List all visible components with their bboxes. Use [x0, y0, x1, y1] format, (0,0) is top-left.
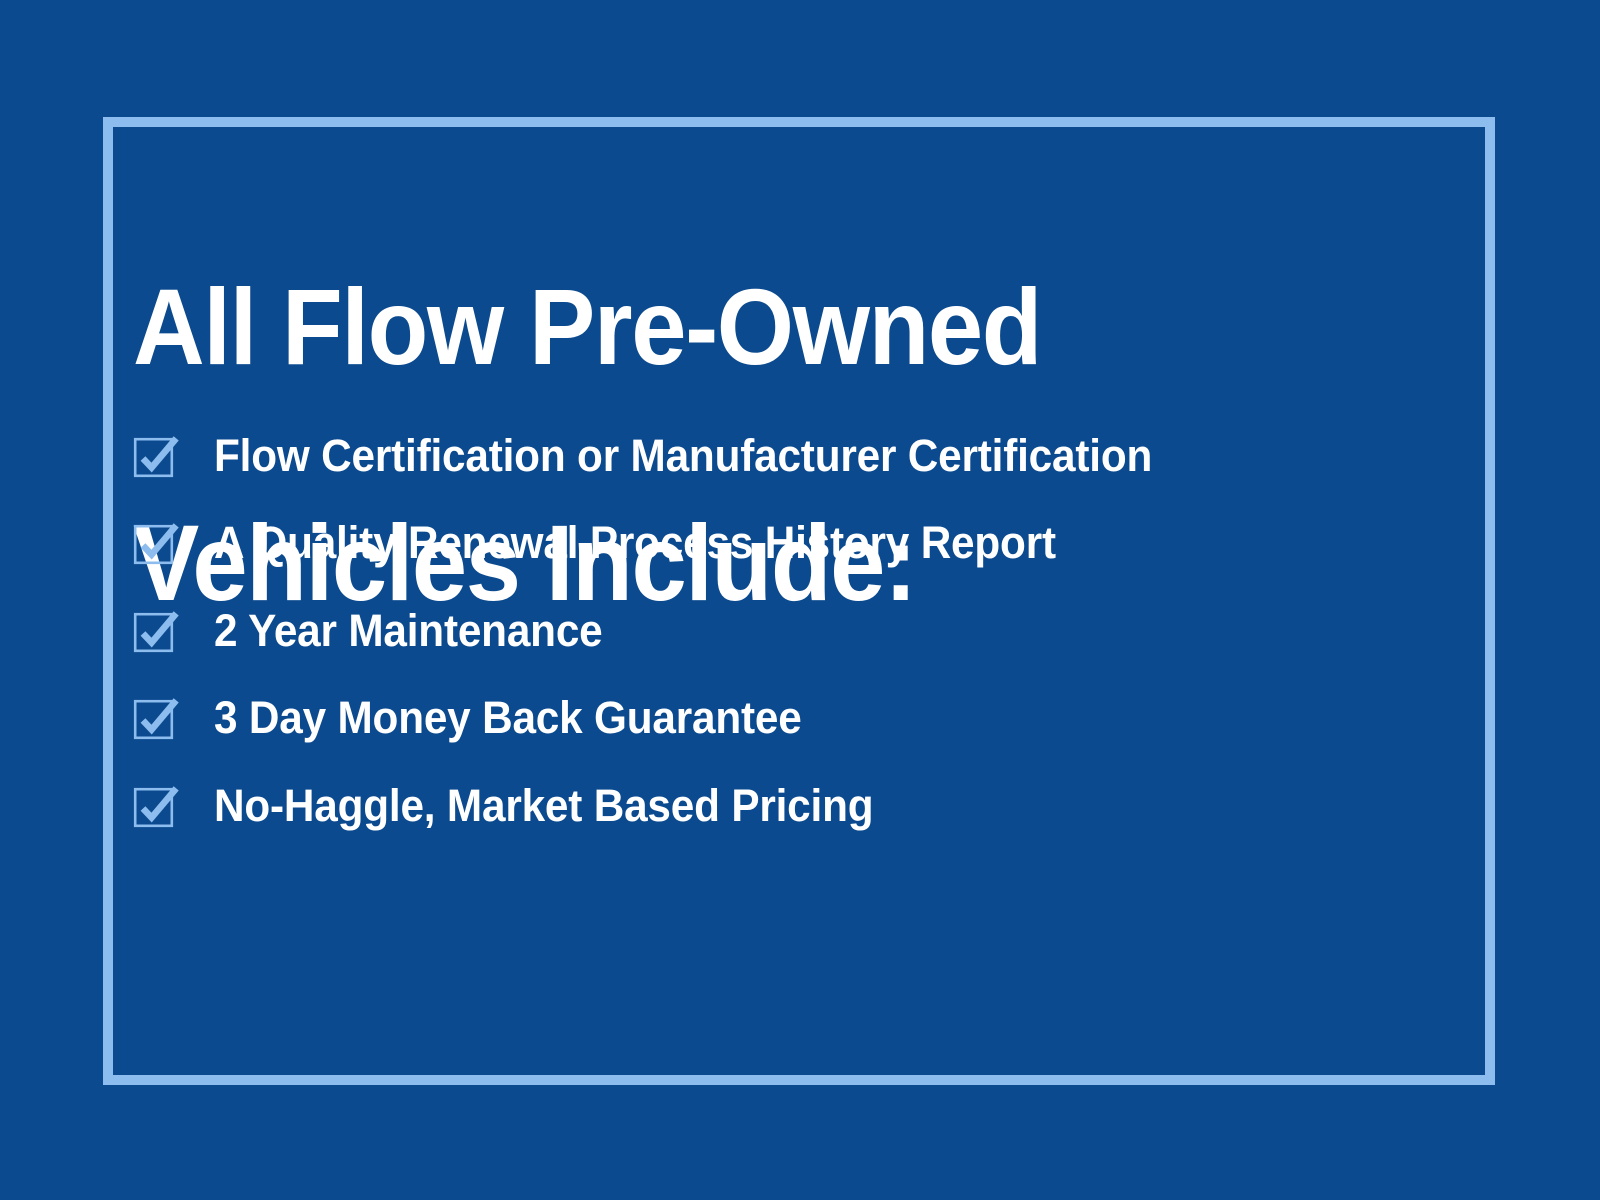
- list-item-label: No-Haggle, Market Based Pricing: [214, 782, 873, 830]
- checked-checkbox-icon: [133, 784, 177, 828]
- checked-checkbox-icon: [133, 434, 177, 478]
- list-item: 2 Year Maintenance: [133, 587, 1363, 675]
- benefits-checklist: Flow Certification or Manufacturer Certi…: [133, 412, 1363, 850]
- list-item: Flow Certification or Manufacturer Certi…: [133, 412, 1363, 500]
- checked-checkbox-icon: [133, 696, 177, 740]
- checked-checkbox-icon: [133, 521, 177, 565]
- list-item: 3 Day Money Back Guarantee: [133, 675, 1363, 763]
- list-item-label: 2 Year Maintenance: [214, 607, 602, 655]
- page-title-line-1: All Flow Pre-Owned: [133, 268, 1219, 386]
- list-item-label: A Quality Renewal Process History Report: [214, 519, 1056, 567]
- list-item: No-Haggle, Market Based Pricing: [133, 762, 1363, 850]
- list-item: A Quality Renewal Process History Report: [133, 500, 1363, 588]
- checked-checkbox-icon: [133, 609, 177, 653]
- promo-canvas: All Flow Pre-Owned Vehicles Include: Flo…: [0, 0, 1600, 1200]
- list-item-label: Flow Certification or Manufacturer Certi…: [214, 432, 1152, 480]
- list-item-label: 3 Day Money Back Guarantee: [214, 694, 802, 742]
